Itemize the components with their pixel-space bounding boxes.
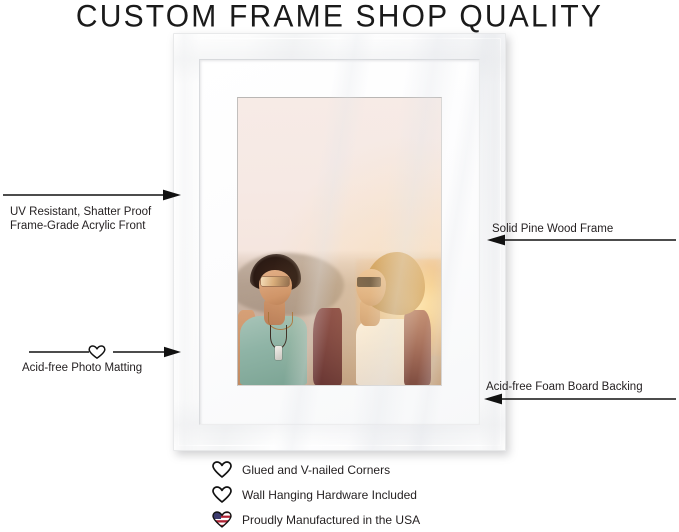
page-title: CUSTOM FRAME SHOP QUALITY: [0, 0, 679, 34]
feature-list: Glued and V-nailed Corners Wall Hanging …: [210, 457, 530, 532]
photo-matting-arrow-right-icon: [29, 345, 181, 357]
annotation-acrylic-front-line2: Frame-Grade Acrylic Front: [10, 219, 151, 233]
annotation-photo-matting: Acid-free Photo Matting: [22, 361, 142, 375]
photo-mat: [199, 59, 480, 425]
annotation-foam-backing-label: Acid-free Foam Board Backing: [486, 380, 643, 394]
wood-frame-arrow-left-icon: [487, 234, 676, 246]
photo-man-face: [259, 270, 291, 304]
photo-woman-jacket-left: [313, 308, 341, 385]
pine-wood-moulding: [173, 33, 506, 451]
photo-woman-jacket-right: [404, 310, 430, 385]
foam-backing-arrow-left-icon: [484, 393, 676, 405]
photo-woman-sunglasses: [357, 277, 381, 287]
acrylic-front-arrow-right-icon: [3, 189, 181, 201]
photo-man-dog-tag: [275, 346, 282, 360]
feature-label: Proudly Manufactured in the USA: [242, 513, 420, 527]
product-frame: [173, 33, 506, 451]
heart-outline-icon: [210, 461, 234, 479]
list-item: Glued and V-nailed Corners: [210, 457, 530, 482]
feature-label: Glued and V-nailed Corners: [242, 463, 390, 477]
list-item: Proudly Manufactured in the USA: [210, 507, 530, 532]
annotation-photo-matting-label: Acid-free Photo Matting: [22, 361, 142, 375]
photo-opening: [237, 97, 442, 386]
heart-usa-flag-icon: [210, 511, 234, 529]
annotation-foam-backing: Acid-free Foam Board Backing: [486, 380, 643, 394]
list-item: Wall Hanging Hardware Included: [210, 482, 530, 507]
photo-man-sunglasses: [261, 277, 288, 286]
heart-outline-icon: [210, 486, 234, 504]
annotation-acrylic-front-line1: UV Resistant, Shatter Proof: [10, 205, 151, 219]
annotation-acrylic-front: UV Resistant, Shatter Proof Frame-Grade …: [10, 205, 151, 233]
feature-label: Wall Hanging Hardware Included: [242, 488, 417, 502]
